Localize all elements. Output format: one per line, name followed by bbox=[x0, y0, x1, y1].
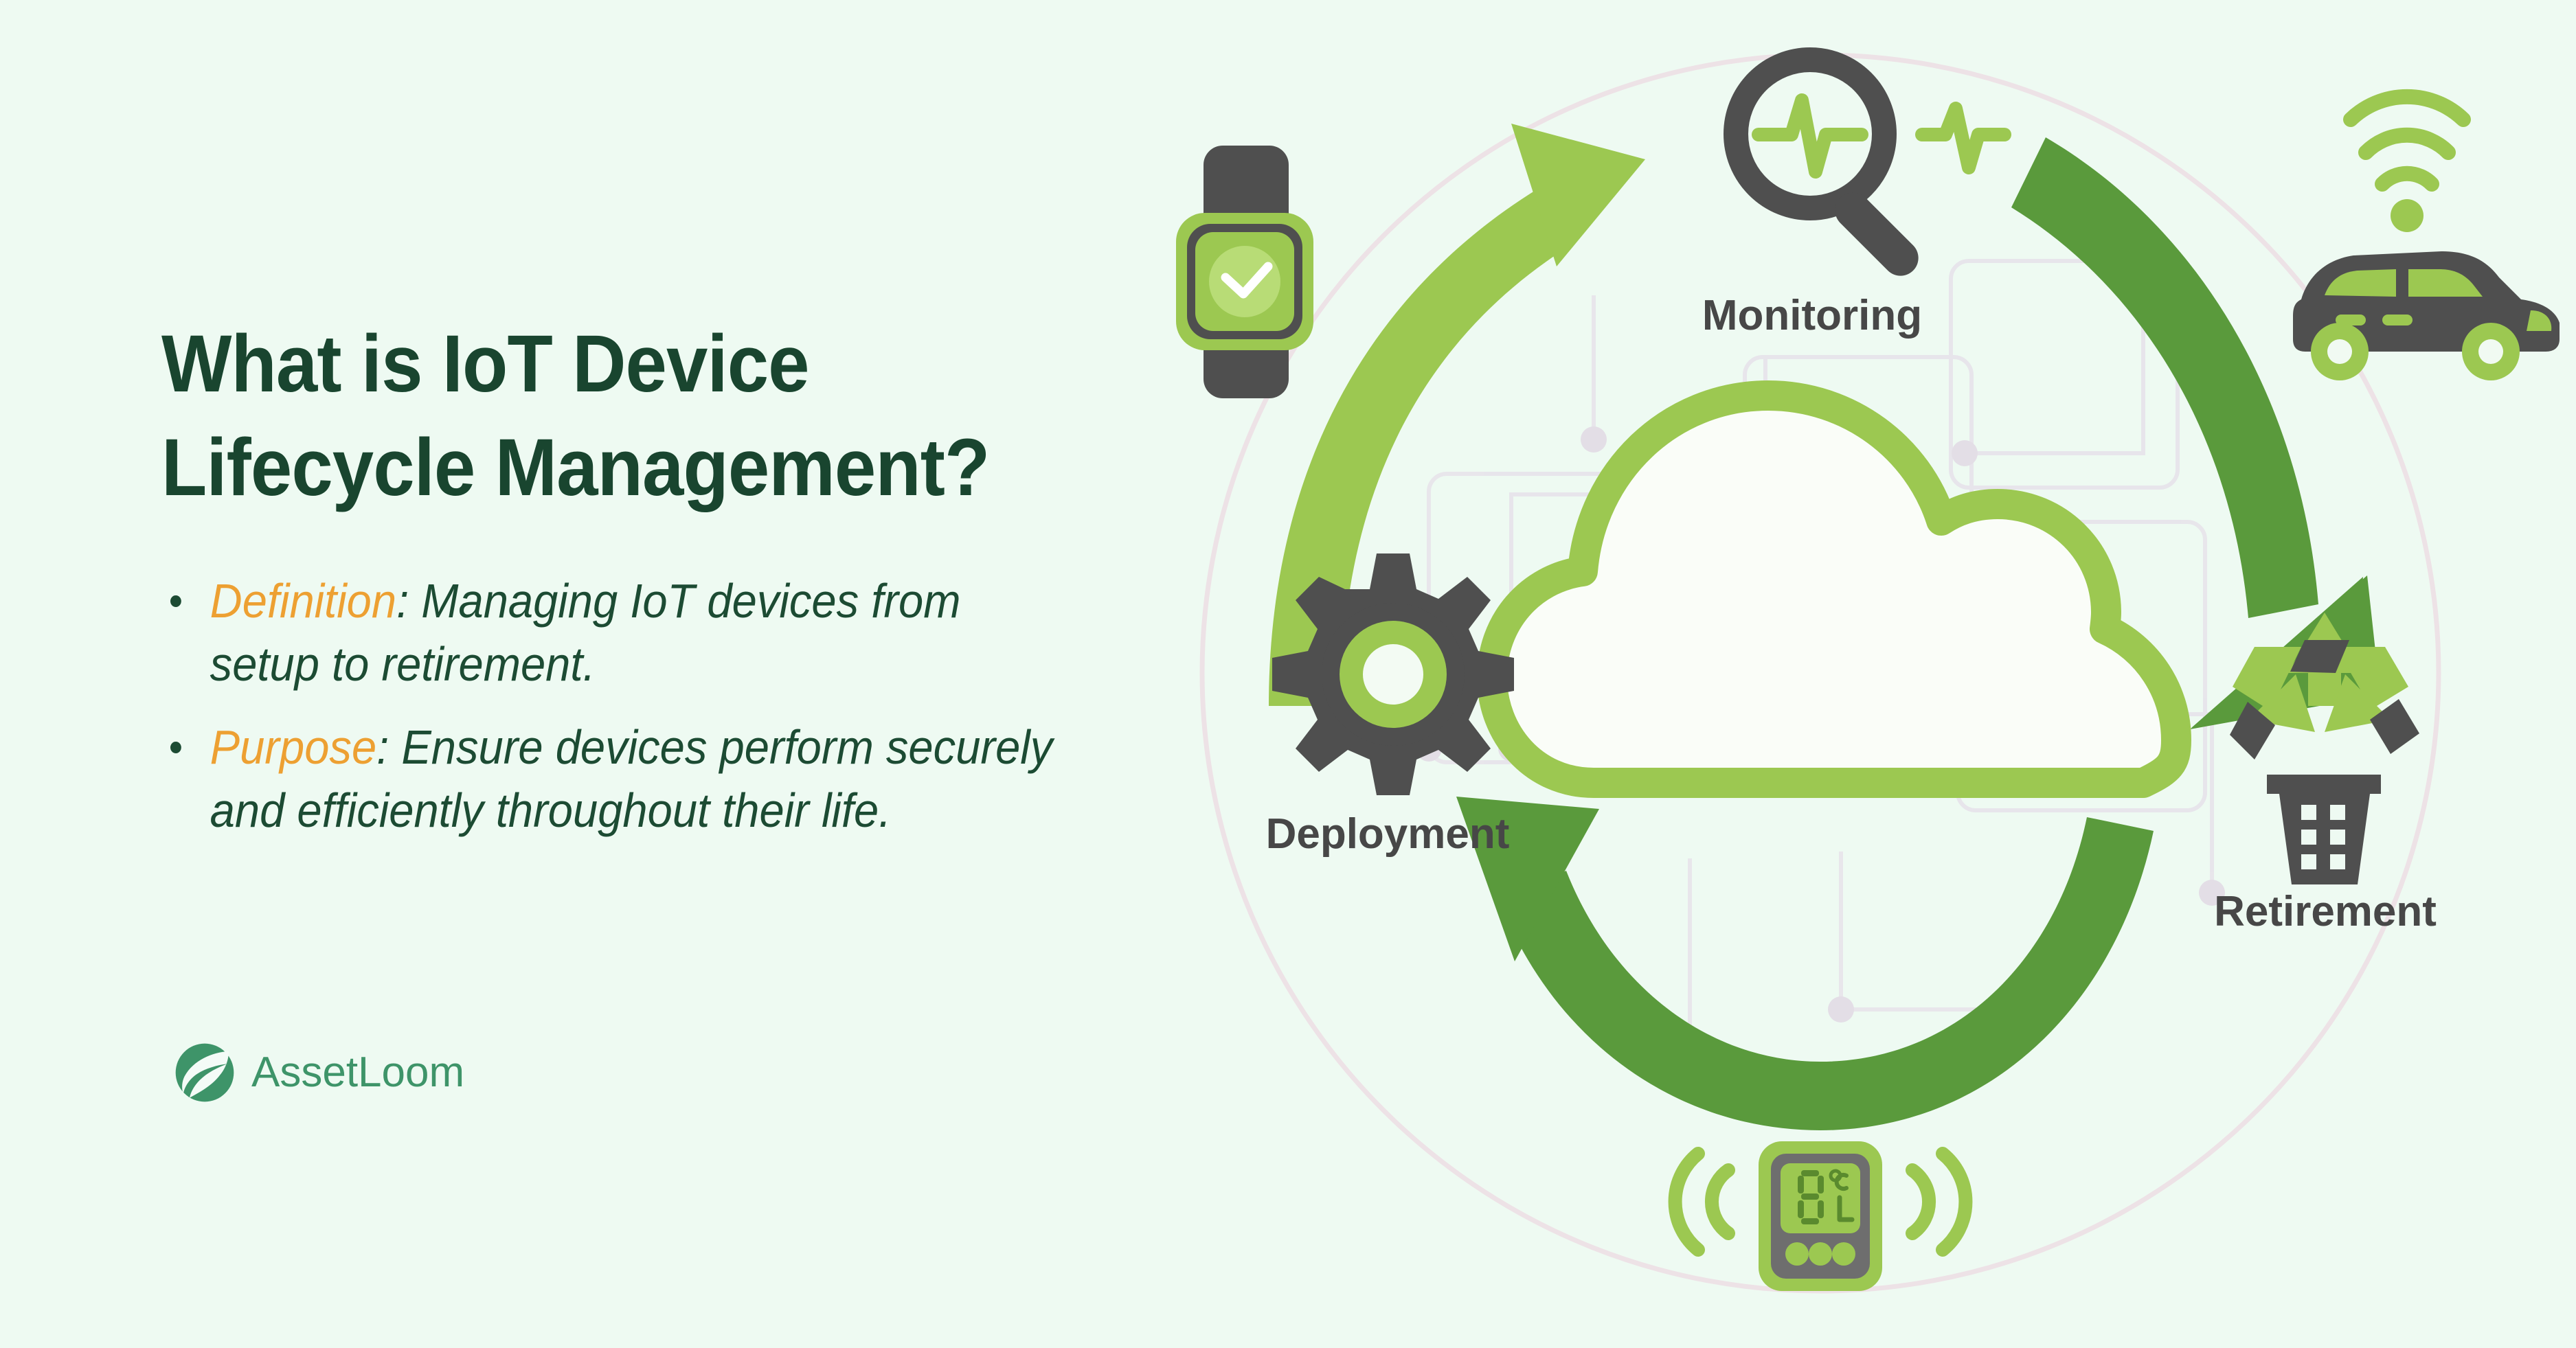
title-line-2: Lifecycle Management? bbox=[161, 416, 1059, 520]
connected-car-icon bbox=[2293, 97, 2560, 380]
title-line-1: What is IoT Device bbox=[161, 312, 1059, 416]
recycle-bin-icon bbox=[2230, 613, 2419, 884]
stage-monitoring: Monitoring bbox=[1702, 60, 2004, 339]
thermostat-icon bbox=[1675, 1141, 1966, 1291]
stage-label-retirement: Retirement bbox=[2214, 888, 2437, 935]
arrow-retirement-to-deployment bbox=[1456, 797, 2154, 1130]
brand-logo: AssetLoom bbox=[173, 1041, 464, 1104]
page-title: What is IoT Device Lifecycle Management? bbox=[161, 312, 1059, 520]
list-item: Purpose: Ensure devices perform securely… bbox=[161, 716, 1069, 843]
slide-root: What is IoT Device Lifecycle Management?… bbox=[0, 0, 2576, 1348]
thermostat-buttons[interactable] bbox=[1785, 1242, 1855, 1266]
bullet-list: Definition: Managing IoT devices from se… bbox=[161, 569, 1137, 843]
smartwatch-icon bbox=[1176, 146, 1313, 398]
stage-label-monitoring: Monitoring bbox=[1702, 292, 1922, 339]
stage-label-deployment: Deployment bbox=[1266, 810, 1510, 858]
left-content-panel: What is IoT Device Lifecycle Management?… bbox=[161, 312, 1137, 862]
lifecycle-diagram: Monitoring bbox=[1072, 0, 2576, 1348]
bullet-dot-icon bbox=[170, 742, 181, 753]
bullet-lead: Purpose bbox=[210, 720, 376, 774]
leaf-circle-icon bbox=[173, 1041, 236, 1104]
bullet-dot-icon bbox=[170, 595, 181, 607]
list-item: Definition: Managing IoT devices from se… bbox=[161, 569, 1069, 696]
stage-retirement: Retirement bbox=[2214, 613, 2437, 935]
brand-name: AssetLoom bbox=[251, 1051, 464, 1094]
magnifier-pulse-icon bbox=[1736, 60, 2004, 283]
bullet-lead: Definition bbox=[210, 574, 396, 628]
